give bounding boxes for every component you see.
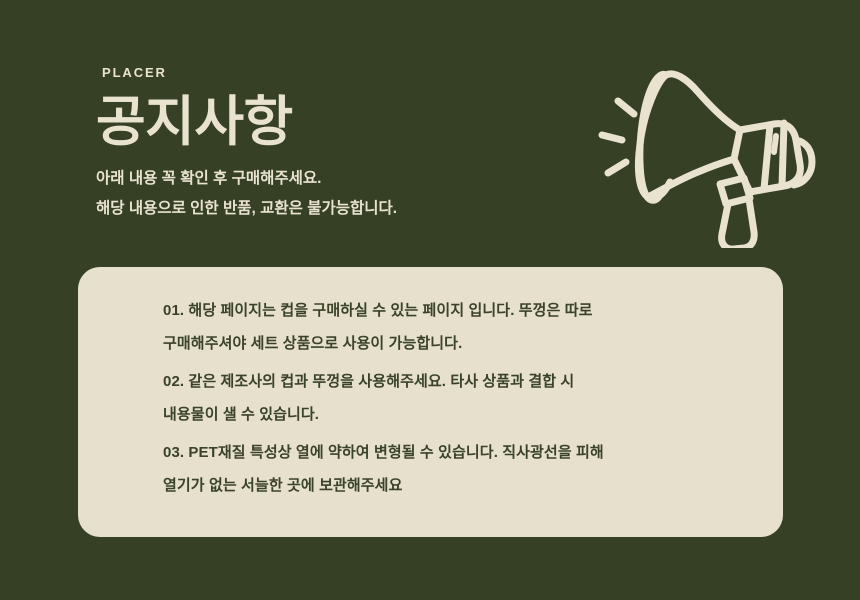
page-title: 공지사항 [96,95,566,149]
subtitle-line-1: 아래 내용 꼭 확인 후 구매해주세요. [96,171,566,187]
notice-item-02-line-1: 02. 같은 제조사의 컵과 뚜껑을 사용해주세요. 타사 상품과 결합 시 [163,374,727,389]
notice-item-03: 03. PET재질 특성상 열에 약하여 변형될 수 있습니다. 직사광선을 피… [163,445,727,493]
notice-item-01: 01. 해당 페이지는 컵을 구매하실 수 있는 페이지 입니다. 뚜껑은 따로… [163,303,727,351]
notice-item-02: 02. 같은 제조사의 컵과 뚜껑을 사용해주세요. 타사 상품과 결합 시 내… [163,374,727,422]
brand-eyebrow-label: PLACER [102,66,566,79]
notice-banner: PLACER 공지사항 아래 내용 꼭 확인 후 구매해주세요. 해당 내용으로… [0,0,860,600]
notice-item-01-line-2: 구매해주셔야 세트 상품으로 사용이 가능합니다. [163,336,727,351]
subtitle-line-2: 해당 내용으로 인한 반품, 교환은 불가능합니다. [96,201,566,217]
header-block: PLACER 공지사항 아래 내용 꼭 확인 후 구매해주세요. 해당 내용으로… [96,66,566,216]
notice-item-03-line-2: 열기가 없는 서늘한 곳에 보관해주세요 [163,478,727,493]
notice-card: 01. 해당 페이지는 컵을 구매하실 수 있는 페이지 입니다. 뚜껑은 따로… [78,267,783,537]
notice-item-03-line-1: 03. PET재질 특성상 열에 약하여 변형될 수 있습니다. 직사광선을 피… [163,445,727,460]
megaphone-icon [594,52,826,248]
notice-item-02-line-2: 내용물이 샐 수 있습니다. [163,407,727,422]
notice-item-01-line-1: 01. 해당 페이지는 컵을 구매하실 수 있는 페이지 입니다. 뚜껑은 따로 [163,303,727,318]
